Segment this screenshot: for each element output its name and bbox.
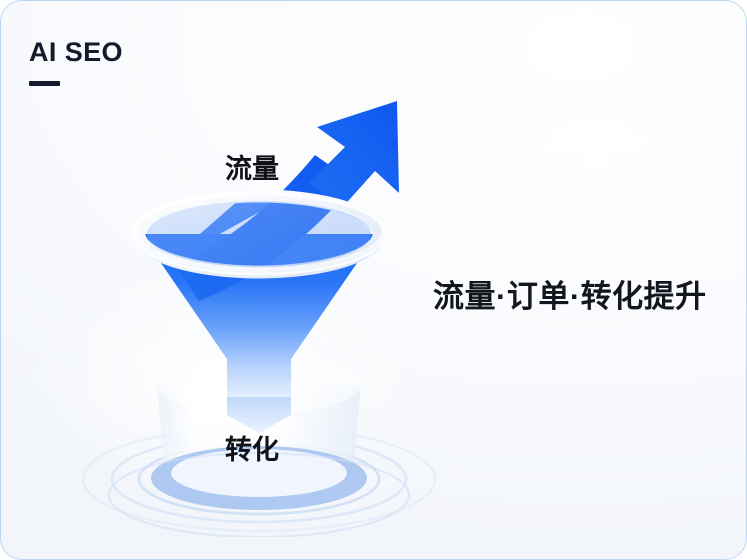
brand-block: AI SEO [29, 37, 123, 86]
funnel-label-traffic: 流量 [225, 154, 279, 184]
infographic-card: AI SEO 流量·订单·转化提升 [0, 0, 747, 560]
funnel-bowl-surface [147, 201, 371, 267]
tagline-text: 流量·订单·转化提升 [433, 277, 707, 317]
background-sheen-right [418, 23, 747, 291]
page-title: AI SEO [29, 37, 123, 67]
title-underline-rule [29, 81, 60, 86]
funnel-label-conversion: 转化 [225, 435, 279, 465]
arrow-head-icon [309, 101, 399, 209]
